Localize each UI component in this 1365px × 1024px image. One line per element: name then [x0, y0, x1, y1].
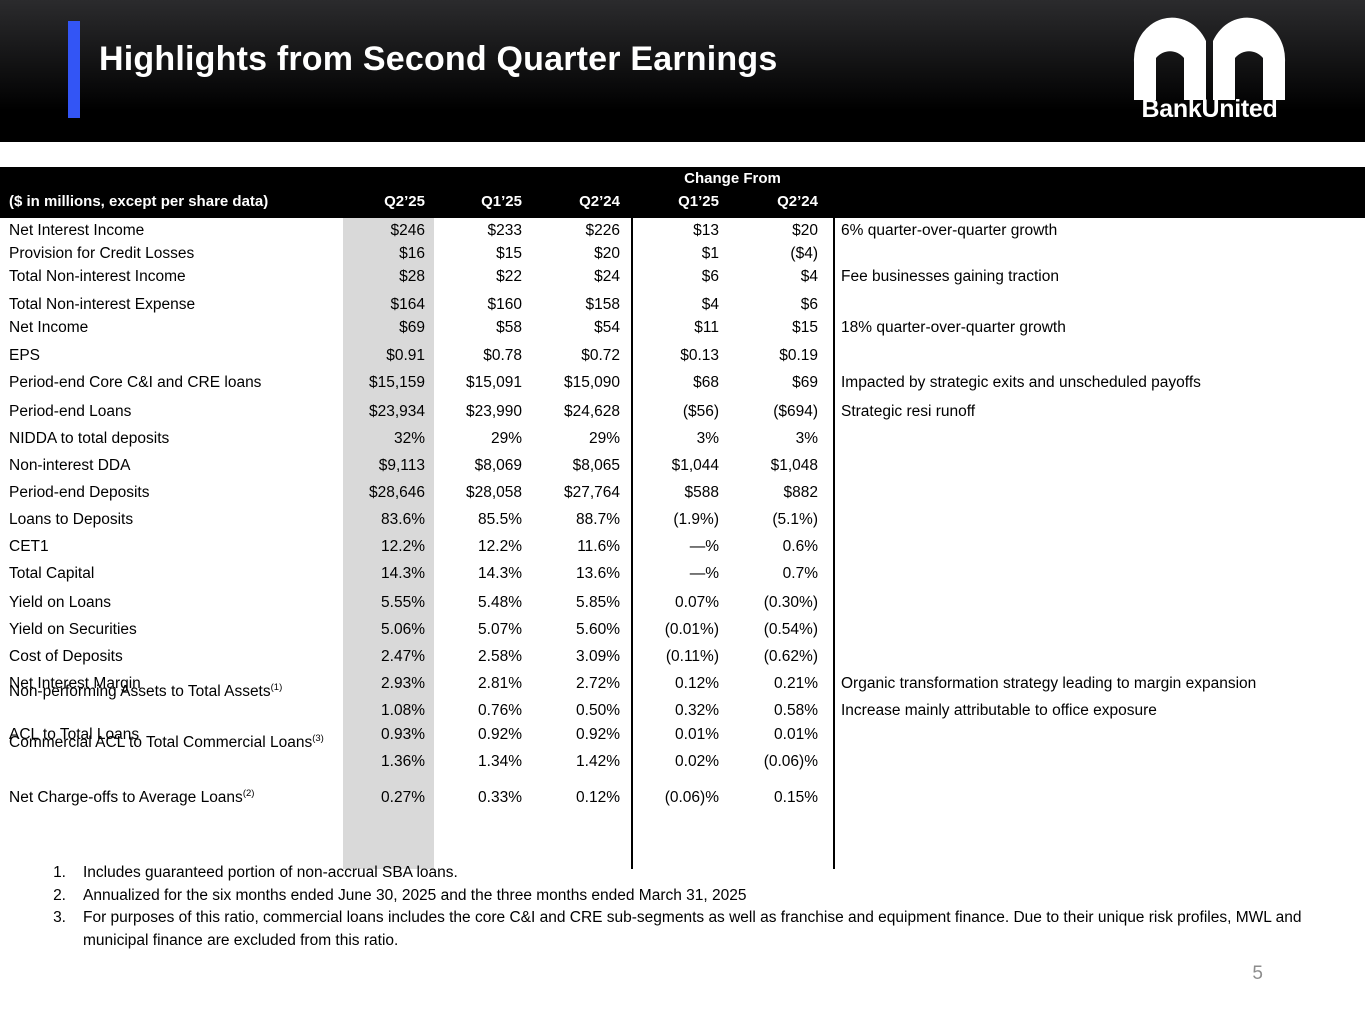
table-cell: 0.07%: [637, 593, 719, 612]
table-cell: 0.33%: [440, 788, 522, 807]
row-commentary: 6% quarter-over-quarter growth: [841, 221, 1057, 240]
row-commentary: Increase mainly attributable to office e…: [841, 701, 1157, 720]
table-cell: $8,065: [538, 456, 620, 475]
table-cell: 12.2%: [343, 537, 425, 556]
table-cell: 88.7%: [538, 510, 620, 529]
column-header-change-q125: Q1’25: [637, 193, 719, 210]
table-row: Period-end Core C&I and CRE loans$15,159…: [0, 373, 1365, 396]
table-cell: 5.60%: [538, 620, 620, 639]
table-cell: (0.06)%: [637, 788, 719, 807]
table-cell: 29%: [440, 429, 522, 448]
row-label: NIDDA to total deposits: [9, 429, 169, 448]
table-cell: 3%: [637, 429, 719, 448]
footnote-text: Includes guaranteed portion of non-accru…: [83, 864, 458, 881]
row-label: Net Income: [9, 318, 88, 337]
table-cell: 0.15%: [736, 788, 818, 807]
table-cell: 0.58%: [736, 701, 818, 720]
table-cell: $20: [736, 221, 818, 240]
table-cell: 0.76%: [440, 701, 522, 720]
table-cell: $28: [343, 267, 425, 286]
page-number: 5: [1252, 963, 1263, 985]
table-column-header-row: ($ in millions, except per share data) Q…: [0, 193, 1365, 218]
table-cell: $15: [736, 318, 818, 337]
footnote-number: 1.: [42, 862, 66, 885]
table-cell: $28,646: [343, 483, 425, 502]
row-label: CET1: [9, 537, 49, 556]
column-header-change-q224: Q2’24: [736, 193, 818, 210]
row-label: Total Capital: [9, 564, 94, 583]
table-row: Period-end Deposits$28,646$28,058$27,764…: [0, 483, 1365, 506]
table-cell: 0.92%: [440, 725, 522, 744]
table-row: Yield on Securities5.06%5.07%5.60%(0.01%…: [0, 620, 1365, 643]
table-cell: $15: [440, 244, 522, 263]
table-cell: (0.62%): [736, 647, 818, 666]
table-cell: 0.01%: [736, 725, 818, 744]
change-from-group-header: Change From: [631, 170, 834, 187]
row-label: Provision for Credit Losses: [9, 244, 194, 263]
row-label: Cost of Deposits: [9, 647, 123, 666]
table-cell: (0.54%): [736, 620, 818, 639]
table-cell: 0.93%: [343, 725, 425, 744]
table-cell: 32%: [343, 429, 425, 448]
table-cell: $68: [637, 373, 719, 392]
row-commentary: 18% quarter-over-quarter growth: [841, 318, 1066, 337]
table-cell: 0.32%: [637, 701, 719, 720]
table-cell: 5.55%: [343, 593, 425, 612]
slide-header: Highlights from Second Quarter Earnings …: [0, 0, 1365, 142]
table-header: Change From ($ in millions, except per s…: [0, 167, 1365, 218]
table-cell: $27,764: [538, 483, 620, 502]
table-cell: $4: [637, 295, 719, 314]
table-cell: $69: [736, 373, 818, 392]
table-cell: $22: [440, 267, 522, 286]
row-label: EPS: [9, 346, 40, 365]
row-commentary: Organic transformation strategy leading …: [841, 674, 1256, 693]
footnote-item: 1.Includes guaranteed portion of non-acc…: [42, 862, 1302, 885]
table-cell: 83.6%: [343, 510, 425, 529]
table-cell: 14.3%: [440, 564, 522, 583]
table-cell: $8,069: [440, 456, 522, 475]
table-cell: $23,934: [343, 402, 425, 421]
footnote-marker: (3): [312, 733, 324, 744]
table-cell: $15,159: [343, 373, 425, 392]
title-accent-bar: [68, 21, 80, 118]
table-cell: $0.72: [538, 346, 620, 365]
table-cell: 1.08%: [343, 701, 425, 720]
row-label: Net Interest Income: [9, 221, 144, 240]
table-cell: $246: [343, 221, 425, 240]
table-row: Provision for Credit Losses$16$15$20$1($…: [0, 244, 1365, 267]
footnote-number: 3.: [42, 907, 66, 930]
table-cell: 1.34%: [440, 752, 522, 771]
table-cell: 29%: [538, 429, 620, 448]
table-cell: 2.58%: [440, 647, 522, 666]
table-cell: $54: [538, 318, 620, 337]
table-cell: 14.3%: [343, 564, 425, 583]
row-label: Period-end Core C&I and CRE loans: [9, 373, 261, 392]
footnote-number: 2.: [42, 885, 66, 908]
table-row: Loans to Deposits83.6%85.5%88.7%(1.9%)(5…: [0, 510, 1365, 533]
table-cell: 2.93%: [343, 674, 425, 693]
footnote-text: Annualized for the six months ended June…: [83, 887, 747, 904]
row-label: Total Non-interest Income: [9, 267, 186, 286]
table-cell: $58: [440, 318, 522, 337]
table-cell: $24,628: [538, 402, 620, 421]
table-cell: $158: [538, 295, 620, 314]
table-cell: $882: [736, 483, 818, 502]
column-header-label: ($ in millions, except per share data): [9, 193, 268, 210]
table-cell: $6: [736, 295, 818, 314]
table-cell: 11.6%: [538, 537, 620, 556]
table-cell: 0.21%: [736, 674, 818, 693]
double-arch-icon: [1122, 14, 1297, 100]
row-label: Loans to Deposits: [9, 510, 133, 529]
table-cell: $15,090: [538, 373, 620, 392]
table-cell: $0.19: [736, 346, 818, 365]
table-cell: (5.1%): [736, 510, 818, 529]
table-cell: 0.92%: [538, 725, 620, 744]
footnote-item: 2.Annualized for the six months ended Ju…: [42, 885, 1302, 908]
table-row: Cost of Deposits2.47%2.58%3.09%(0.11%)(0…: [0, 647, 1365, 670]
table-row: Commercial ACL to Total Commercial Loans…: [0, 752, 1365, 775]
table-cell: $226: [538, 221, 620, 240]
footnote-marker: (2): [243, 788, 255, 799]
table-cell: $4: [736, 267, 818, 286]
table-cell: 5.85%: [538, 593, 620, 612]
table-cell: $233: [440, 221, 522, 240]
footnote-item: 3.For purposes of this ratio, commercial…: [42, 907, 1302, 952]
table-cell: 1.36%: [343, 752, 425, 771]
table-row: Yield on Loans5.55%5.48%5.85%0.07%(0.30%…: [0, 593, 1365, 616]
table-cell: (0.30%): [736, 593, 818, 612]
table-cell: $0.13: [637, 346, 719, 365]
footnotes-list: 1.Includes guaranteed portion of non-acc…: [42, 862, 1302, 952]
column-header-q225: Q2’25: [343, 193, 425, 210]
table-row: Non-interest DDA$9,113$8,069$8,065$1,044…: [0, 456, 1365, 479]
table-cell: 12.2%: [440, 537, 522, 556]
table-cell: 5.06%: [343, 620, 425, 639]
table-row: Non-performing Assets to Total Assets(1)…: [0, 701, 1365, 724]
row-commentary: Impacted by strategic exits and unschedu…: [841, 373, 1201, 392]
table-row: CET112.2%12.2%11.6%—%0.6%: [0, 537, 1365, 560]
table-cell: (0.01%): [637, 620, 719, 639]
table-cell: 2.81%: [440, 674, 522, 693]
row-label: Period-end Deposits: [9, 483, 149, 502]
row-label: Total Non-interest Expense: [9, 295, 195, 314]
table-cell: $23,990: [440, 402, 522, 421]
table-cell: $1,044: [637, 456, 719, 475]
table-body: Net Interest Income$246$233$226$13$206% …: [0, 218, 1365, 819]
page-title: Highlights from Second Quarter Earnings: [99, 40, 777, 79]
table-row: Total Non-interest Income$28$22$24$6$4Fe…: [0, 267, 1365, 290]
table-cell: ($4): [736, 244, 818, 263]
table-cell: $0.91: [343, 346, 425, 365]
table-row: NIDDA to total deposits32%29%29%3%3%: [0, 429, 1365, 452]
row-label: Yield on Securities: [9, 620, 137, 639]
column-header-q224: Q2’24: [538, 193, 620, 210]
row-label: Net Charge-offs to Average Loans(2): [9, 788, 254, 807]
bankunited-logo: BankUnited: [1122, 14, 1297, 126]
footnote-text: For purposes of this ratio, commercial l…: [83, 909, 1301, 949]
table-cell: (0.11%): [637, 647, 719, 666]
table-cell: 2.47%: [343, 647, 425, 666]
table-cell: $15,091: [440, 373, 522, 392]
table-cell: 3%: [736, 429, 818, 448]
table-cell: (1.9%): [637, 510, 719, 529]
table-cell: 1.42%: [538, 752, 620, 771]
table-cell: 0.7%: [736, 564, 818, 583]
table-row: Total Non-interest Expense$164$160$158$4…: [0, 295, 1365, 318]
table-cell: $20: [538, 244, 620, 263]
table-cell: $28,058: [440, 483, 522, 502]
brand-wordmark: BankUnited: [1122, 95, 1297, 124]
table-row: Total Capital14.3%14.3%13.6%—%0.7%: [0, 564, 1365, 587]
table-row: Net Charge-offs to Average Loans(2)0.27%…: [0, 788, 1365, 811]
metrics-table: Change From ($ in millions, except per s…: [0, 167, 1365, 819]
table-cell: 0.6%: [736, 537, 818, 556]
table-row: Net Interest Income$246$233$226$13$206% …: [0, 221, 1365, 244]
table-cell: $1,048: [736, 456, 818, 475]
table-cell: 0.12%: [538, 788, 620, 807]
table-cell: $11: [637, 318, 719, 337]
table-cell: $24: [538, 267, 620, 286]
table-cell: $588: [637, 483, 719, 502]
table-cell: 85.5%: [440, 510, 522, 529]
table-cell: $16: [343, 244, 425, 263]
row-commentary: Strategic resi runoff: [841, 402, 975, 421]
table-cell: 13.6%: [538, 564, 620, 583]
table-cell: (0.06)%: [736, 752, 818, 771]
row-label: Non-interest DDA: [9, 456, 130, 475]
table-cell: $1: [637, 244, 719, 263]
table-cell: 5.48%: [440, 593, 522, 612]
row-label: Non-performing Assets to Total Assets(1): [9, 682, 339, 701]
table-cell: ($694): [736, 402, 818, 421]
table-row: Net Income$69$58$54$11$1518% quarter-ove…: [0, 318, 1365, 341]
table-row: EPS$0.91$0.78$0.72$0.13$0.19: [0, 346, 1365, 369]
table-cell: 0.01%: [637, 725, 719, 744]
table-cell: $0.78: [440, 346, 522, 365]
table-cell: 0.02%: [637, 752, 719, 771]
table-cell: 3.09%: [538, 647, 620, 666]
table-cell: 0.27%: [343, 788, 425, 807]
row-label: Period-end Loans: [9, 402, 131, 421]
column-header-q125: Q1’25: [440, 193, 522, 210]
table-cell: 5.07%: [440, 620, 522, 639]
table-cell: $69: [343, 318, 425, 337]
row-label: Yield on Loans: [9, 593, 111, 612]
table-cell: $164: [343, 295, 425, 314]
table-row: Period-end Loans$23,934$23,990$24,628($5…: [0, 402, 1365, 425]
table-cell: 0.12%: [637, 674, 719, 693]
table-cell: ($56): [637, 402, 719, 421]
table-cell: $9,113: [343, 456, 425, 475]
table-cell: $6: [637, 267, 719, 286]
table-cell: 0.50%: [538, 701, 620, 720]
footnote-marker: (1): [271, 682, 283, 693]
table-cell: —%: [637, 564, 719, 583]
table-cell: $13: [637, 221, 719, 240]
table-cell: —%: [637, 537, 719, 556]
table-cell: $160: [440, 295, 522, 314]
row-label: Commercial ACL to Total Commercial Loans…: [9, 733, 339, 752]
row-commentary: Fee businesses gaining traction: [841, 267, 1059, 286]
table-cell: 2.72%: [538, 674, 620, 693]
